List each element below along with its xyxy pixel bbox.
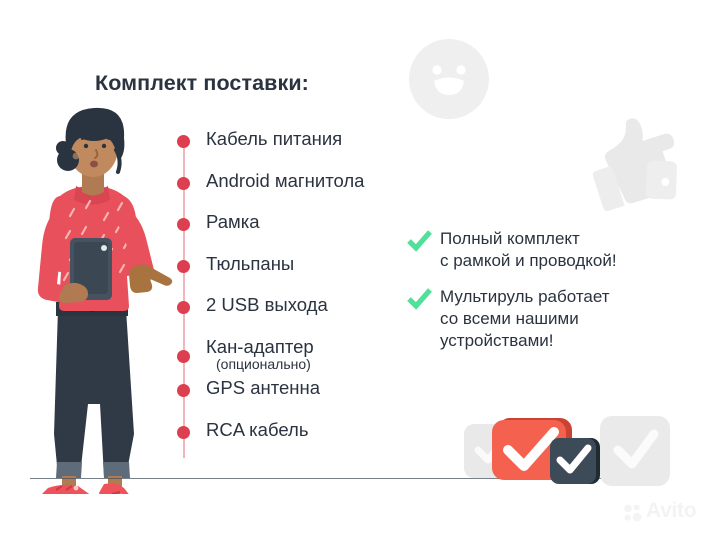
bullet-icon [177, 177, 190, 190]
list-item-sublabel: (опционально) [216, 356, 311, 373]
list-item-label: 2 USB выхода [206, 294, 328, 316]
list-item: Android магнитола [172, 170, 412, 212]
avito-logo-icon [622, 502, 644, 524]
check-icon [406, 229, 432, 255]
list-item: Кабель питания [172, 128, 412, 170]
list-item-label: Рамка [206, 211, 260, 233]
bullet-icon [177, 260, 190, 273]
benefit-text: Мультируль работает со всеми нашими устр… [440, 286, 696, 352]
bullet-icon [177, 350, 190, 363]
avito-watermark: Avito [622, 500, 714, 526]
list-item-label: RCA кабель [206, 419, 308, 441]
thumbs-up-icon [578, 112, 682, 216]
list-item-label: Android магнитола [206, 170, 364, 192]
promo-banner: Комплект поставки: [0, 0, 720, 540]
smiley-icon [406, 36, 492, 122]
benefit-text: Полный комплект с рамкой и проводкой! [440, 228, 696, 272]
bullet-icon [177, 384, 190, 397]
bullet-icon [177, 426, 190, 439]
checkbox-graphic [462, 412, 682, 496]
list-item-label: GPS антенна [206, 377, 320, 399]
benefit-item: Полный комплект с рамкой и проводкой! [406, 228, 696, 272]
bullet-icon [177, 135, 190, 148]
list-item: Тюльпаны [172, 253, 412, 295]
benefits-list: Полный комплект с рамкой и проводкой! Му… [406, 228, 696, 366]
list-item-label: Тюльпаны [206, 253, 294, 275]
list-item-label: Кабель питания [206, 128, 342, 150]
benefit-item: Мультируль работает со всеми нашими устр… [406, 286, 696, 352]
list-item: Кан-адаптер (опционально) [172, 336, 412, 378]
page-title: Комплект поставки: [95, 71, 309, 96]
list-item: GPS антенна [172, 377, 412, 419]
list-item-label: Кан-адаптер [206, 336, 314, 358]
check-icon [406, 287, 432, 313]
supply-list: Кабель питания Android магнитола Рамка Т… [172, 128, 412, 460]
bullet-icon [177, 218, 190, 231]
list-item: Рамка [172, 211, 412, 253]
list-item: 2 USB выхода [172, 294, 412, 336]
avito-brand-text: Avito [646, 499, 696, 523]
list-item: RCA кабель [172, 419, 412, 461]
bullet-icon [177, 301, 190, 314]
person-illustration [8, 104, 180, 494]
